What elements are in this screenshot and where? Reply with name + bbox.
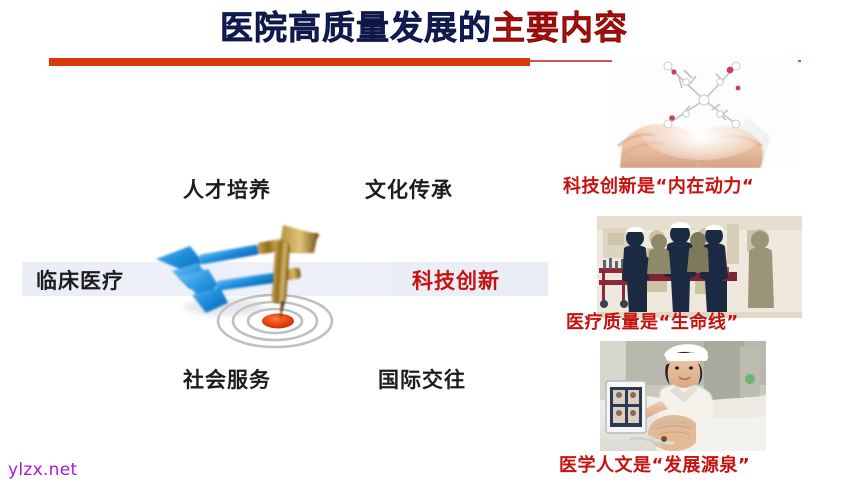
hand-holding-molecule-photo: [612, 58, 798, 168]
diagram-node-wenhua[interactable]: 文化传承: [365, 174, 453, 204]
page-title: 医院高质量发展的主要内容: [0, 6, 848, 50]
diagram-node-keji[interactable]: 科技创新: [412, 265, 500, 295]
page-title-primary: 医院高质量发展的: [220, 8, 492, 47]
dartboard-illustration: [150, 215, 385, 355]
page-title-accent: 主要内容: [492, 8, 628, 47]
diagram-node-rencai[interactable]: 人才培养: [183, 174, 271, 204]
caption-humanity: 医学人文是“发展源泉”: [559, 451, 750, 477]
title-underline-thick: [49, 58, 530, 66]
surgery-team-illustration: [597, 216, 802, 318]
diagram-node-shehui[interactable]: 社会服务: [183, 364, 271, 394]
slide-canvas: 医院高质量发展的主要内容: [0, 0, 848, 490]
caption-quality: 医疗质量是“生命线”: [566, 308, 739, 334]
nurse-with-tablet-and-patient-photo: [600, 341, 766, 451]
caption-innovation: 科技创新是“内在动力“: [563, 172, 754, 198]
site-watermark: ylzx.net: [8, 460, 77, 480]
diagram-node-linchuang[interactable]: 临床医疗: [36, 265, 124, 295]
diagram-node-guoji[interactable]: 国际交往: [378, 364, 466, 394]
